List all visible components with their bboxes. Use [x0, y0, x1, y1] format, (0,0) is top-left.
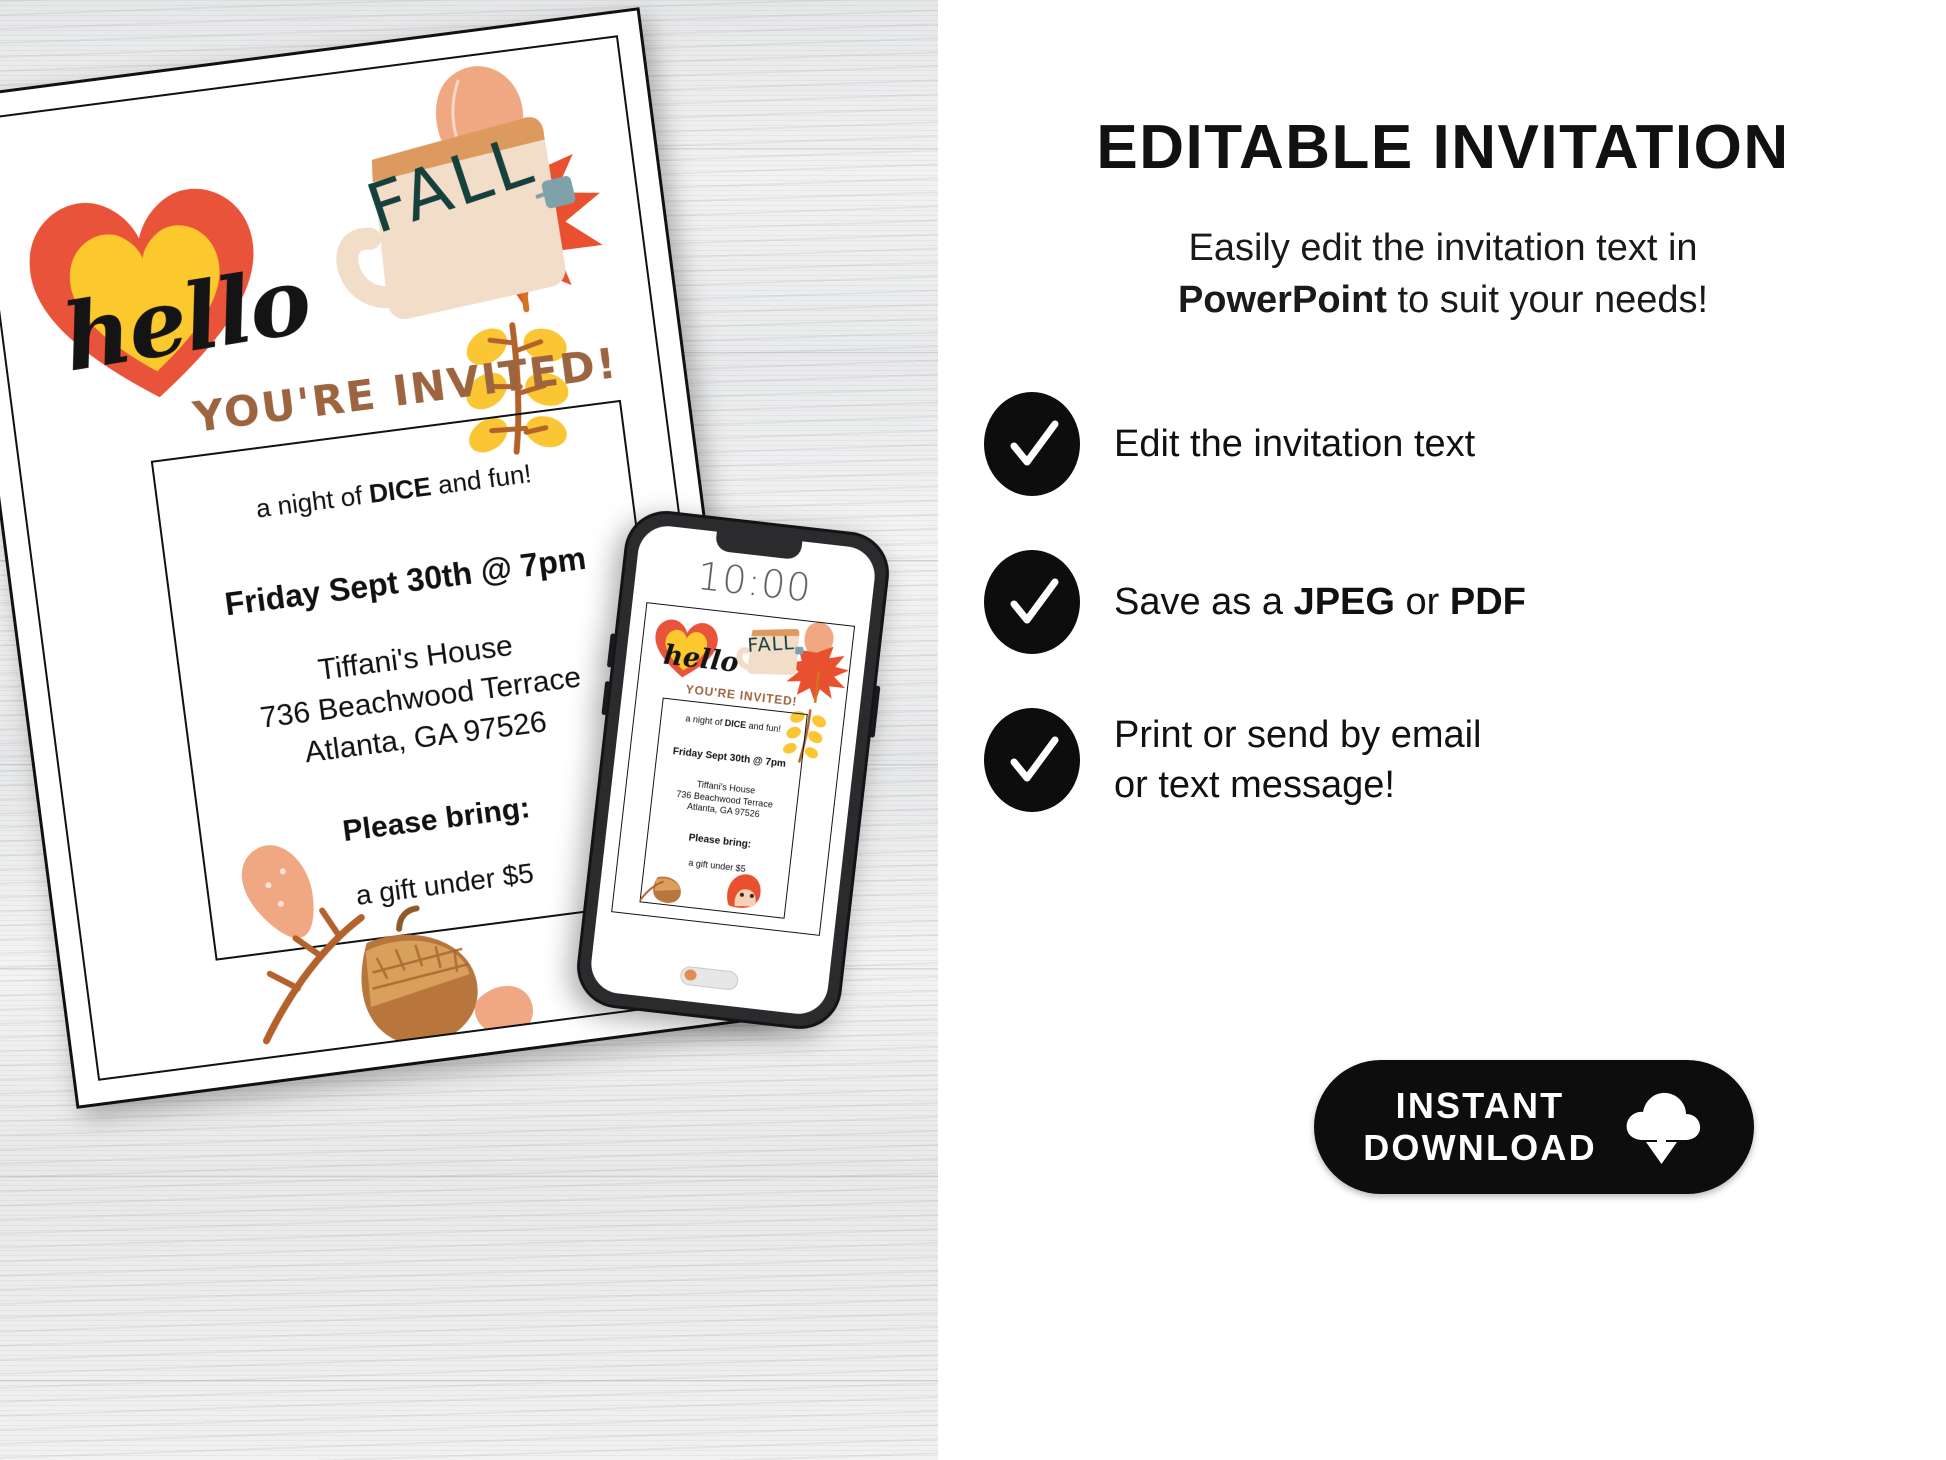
- print-send-line-2: or text message!: [1114, 764, 1395, 806]
- feature-item-label: Save as a JPEG or PDF: [1114, 577, 1526, 627]
- feature-item-save-format: Save as a JPEG or PDF: [984, 550, 1924, 654]
- mini-acorn-icon: [637, 865, 689, 906]
- phone-invitation-preview: hello FALL YOU'RE INVITED! a night of DI…: [611, 602, 855, 936]
- phone-mockup: 10:00: [573, 507, 894, 1034]
- mini-fall-word: FALL: [747, 632, 796, 657]
- subhead-powerpoint: PowerPoint: [1178, 279, 1387, 321]
- feature-item-print-send: Print or send by email or text message!: [984, 708, 1924, 812]
- mini-event-date: Friday Sept 30th @ 7pm: [657, 744, 801, 771]
- subhead-line-2: to suit your needs!: [1387, 279, 1708, 321]
- download-line-2: DOWNLOAD: [1363, 1127, 1597, 1169]
- feature-list: Edit the invitation text Save as a JPEG …: [984, 392, 1924, 866]
- print-send-line-1: Print or send by email: [1114, 714, 1482, 756]
- mini-event-address: Tiffani's House 736 Beachwood Terrace At…: [651, 774, 798, 825]
- feature-item-edit-text: Edit the invitation text: [984, 392, 1924, 496]
- check-circle-icon: [984, 550, 1080, 654]
- promo-panel: EDITABLE INVITATION Easily edit the invi…: [938, 0, 1946, 1460]
- instant-download-label: INSTANT DOWNLOAD: [1363, 1085, 1597, 1170]
- mini-tagline: a night of DICE and fun!: [661, 711, 805, 737]
- feature-item-label: Print or send by email or text message!: [1114, 710, 1482, 810]
- cloud-download-icon: [1619, 1084, 1705, 1170]
- promo-headline: EDITABLE INVITATION: [978, 112, 1908, 183]
- check-circle-icon: [984, 392, 1080, 496]
- event-address: Tiffani's House 736 Beachwood Terrace At…: [180, 608, 662, 788]
- phone-home-indicator[interactable]: [679, 965, 739, 990]
- promo-subhead: Easily edit the invitation text in Power…: [998, 222, 1888, 327]
- download-line-1: INSTANT: [1363, 1085, 1597, 1127]
- mini-fox-icon: [720, 865, 795, 917]
- instant-download-button[interactable]: INSTANT DOWNLOAD: [1314, 1060, 1754, 1194]
- product-listing-image: hello FALL YOU'RE INVITED! a night of DI…: [0, 0, 1946, 1460]
- feature-item-label: Edit the invitation text: [1114, 419, 1475, 469]
- acorn-illustration: [200, 799, 558, 1078]
- check-circle-icon: [984, 708, 1080, 812]
- mini-text-box: a night of DICE and fun! Friday Sept 30t…: [639, 698, 807, 919]
- tagline: a night of DICE and fun!: [159, 446, 629, 537]
- event-date: Friday Sept 30th @ 7pm: [170, 533, 641, 630]
- mini-bring-label: Please bring:: [648, 828, 792, 855]
- subhead-line-1: Easily edit the invitation text in: [1188, 227, 1697, 269]
